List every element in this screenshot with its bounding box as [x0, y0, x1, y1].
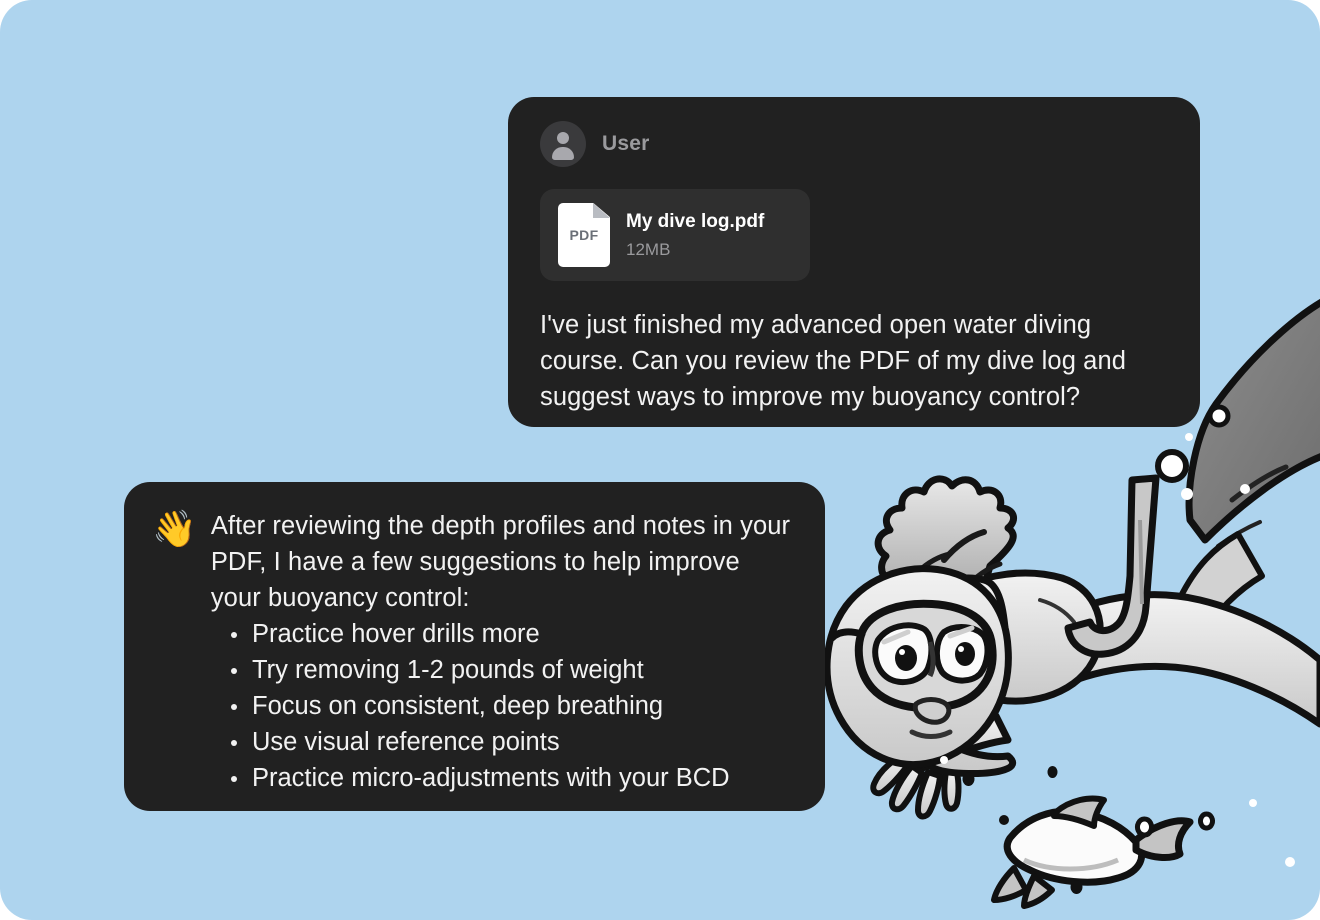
- user-message-text: I've just finished my advanced open wate…: [540, 307, 1168, 415]
- attachment-meta: My dive log.pdf 12MB: [626, 211, 764, 260]
- list-item: Focus on consistent, deep breathing: [228, 688, 795, 724]
- attachment-file-size: 12MB: [626, 240, 764, 260]
- chat-scene: User PDF My dive log.pdf 12MB I've just …: [0, 0, 1320, 920]
- waving-hand-emoji: 👋: [152, 510, 197, 548]
- sender-name: User: [602, 132, 650, 156]
- list-item: Use visual reference points: [228, 724, 795, 760]
- pdf-file-icon: PDF: [558, 203, 610, 267]
- assistant-message-bubble: 👋 After reviewing the depth profiles and…: [124, 482, 825, 811]
- assistant-intro-text: After reviewing the depth profiles and n…: [211, 508, 795, 616]
- list-item: Try removing 1-2 pounds of weight: [228, 652, 795, 688]
- pdf-attachment-card[interactable]: PDF My dive log.pdf 12MB: [540, 189, 810, 281]
- assistant-intro-row: 👋 After reviewing the depth profiles and…: [152, 508, 795, 616]
- list-item: Practice micro-adjustments with your BCD: [228, 760, 795, 796]
- fish-illustration: [994, 799, 1190, 907]
- user-header: User: [540, 121, 1168, 167]
- attachment-file-name: My dive log.pdf: [626, 211, 764, 233]
- user-message-bubble: User PDF My dive log.pdf 12MB I've just …: [508, 97, 1200, 427]
- avatar-head-shape: [557, 132, 569, 144]
- suggestion-list: Practice hover drills more Try removing …: [152, 616, 795, 796]
- bubbles-illustration: [940, 376, 1295, 894]
- pdf-icon-label: PDF: [558, 227, 610, 243]
- avatar-body-shape: [552, 147, 574, 160]
- person-avatar-icon: [540, 121, 586, 167]
- list-item: Practice hover drills more: [228, 616, 795, 652]
